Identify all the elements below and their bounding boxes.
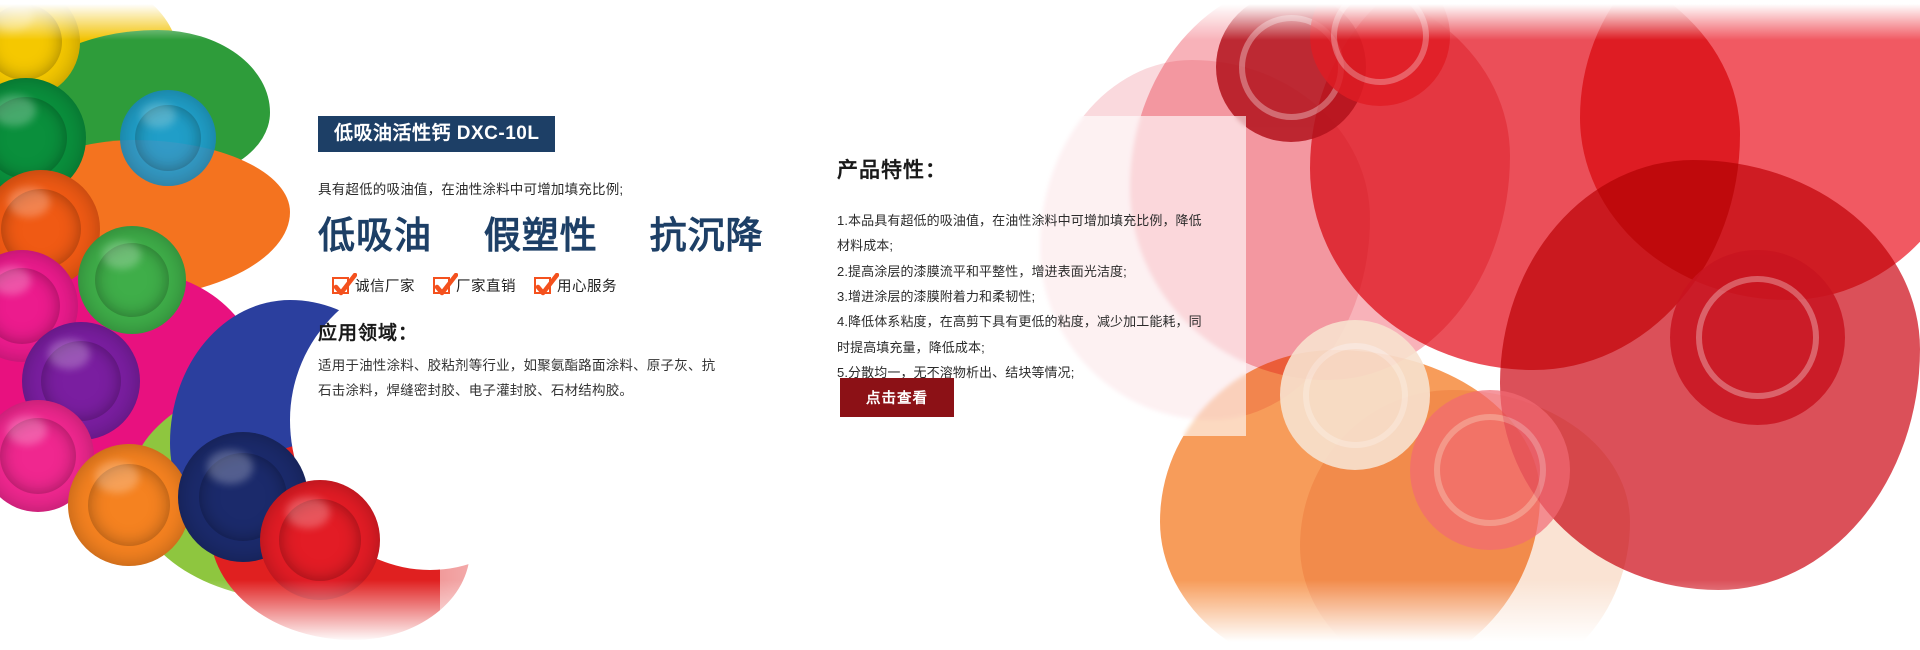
product-features-panel: 产品特性： 1.本品具有超低的吸油值，在油性涂料中可增加填充比例，降低材料成本;… [803,116,1246,436]
product-headline: 低吸油 假塑性 抗沉降 [318,214,738,257]
application-section-body: 适用于油性涂料、胶粘剂等行业，如聚氨酯路面涂料、原子灰、抗石击涂料，焊缝密封胶、… [318,354,718,404]
product-lead-text: 具有超低的吸油值，在油性涂料中可增加填充比例; [318,180,738,200]
features-list: 1.本品具有超低的吸油值，在油性涂料中可增加填充比例，降低材料成本; 2.提高涂… [837,208,1212,385]
trust-badge-label: 诚信厂家 [355,275,415,296]
feature-item: 3.增进涂层的漆膜附着力和柔韧性; [837,284,1212,309]
features-title: 产品特性： [837,154,1212,184]
trust-badge: 用心服务 [534,275,617,296]
paint-cup-rose-bottom [1410,390,1570,550]
paint-pot-red [260,480,380,600]
feature-item: 2.提高涂层的漆膜流平和平整性，增进表面光洁度; [837,259,1212,284]
left-content-block: 低吸油活性钙 DXC-10L 具有超低的吸油值，在油性涂料中可增加填充比例; 低… [318,116,738,404]
product-title-tag: 低吸油活性钙 DXC-10L [318,116,555,152]
trust-badge-list: 诚信厂家 厂家直销 用心服务 [332,275,738,296]
feature-item: 4.降低体系粘度，在高剪下具有更低的粘度，减少加工能耗，同时提高填充量，降低成本… [837,309,1212,360]
paint-pot-orange-light [68,444,190,566]
paint-cup-cream [1280,320,1430,470]
paint-cup-crimson-right [1670,250,1845,425]
trust-badge: 厂家直销 [433,275,516,296]
product-features-panel-inner: 产品特性： 1.本品具有超低的吸油值，在油性涂料中可增加填充比例，降低材料成本;… [803,116,1246,385]
check-icon [534,277,551,294]
trust-badge-label: 用心服务 [557,275,617,296]
trust-badge-label: 厂家直销 [456,275,516,296]
paint-pot-green-light [78,226,186,334]
feature-item: 1.本品具有超低的吸油值，在油性涂料中可增加填充比例，降低材料成本; [837,208,1212,259]
product-banner: 低吸油活性钙 DXC-10L 具有超低的吸油值，在油性涂料中可增加填充比例; 低… [0,0,1920,650]
paint-pot-blue [120,90,216,186]
view-details-button[interactable]: 点击查看 [840,378,954,417]
trust-badge: 诚信厂家 [332,275,415,296]
headline-word-2: 假塑性 [484,213,598,257]
application-section-title: 应用领域： [318,318,738,345]
check-icon [433,277,450,294]
check-icon [332,277,349,294]
headline-word-1: 低吸油 [318,213,432,257]
headline-word-3: 抗沉降 [650,213,764,257]
